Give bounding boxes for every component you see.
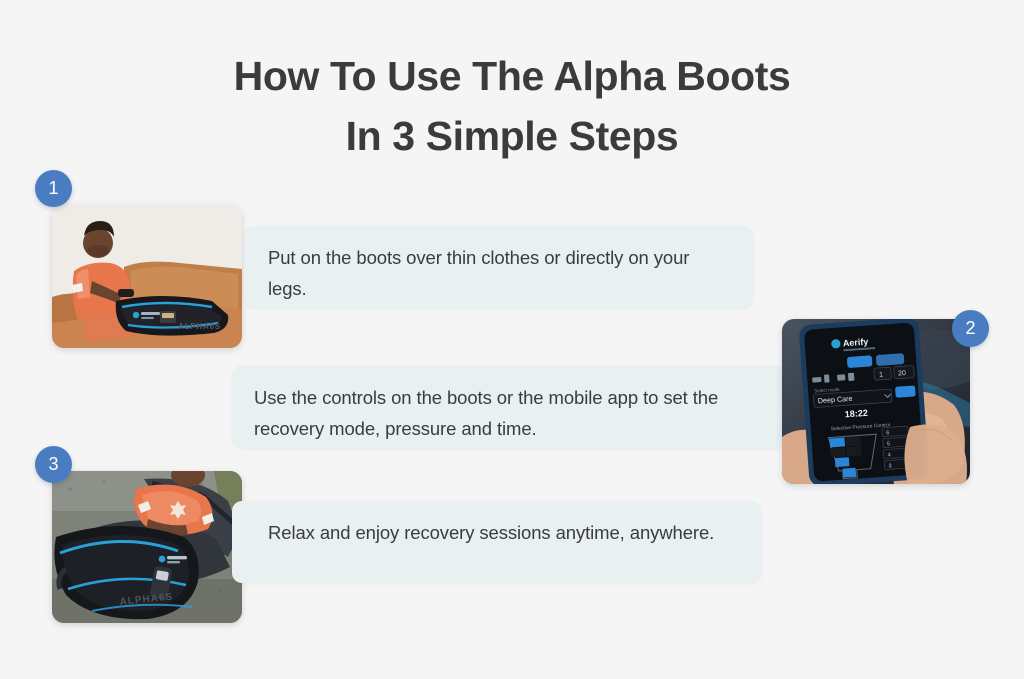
infographic-canvas: How To Use The Alpha Boots In 3 Simple S… [0, 0, 1024, 679]
step-3-card: Relax and enjoy recovery sessions anytim… [232, 501, 761, 583]
step-1-badge-number: 1 [48, 178, 58, 199]
svg-text:3: 3 [888, 463, 891, 469]
step-1-text: Put on the boots over thin clothes or di… [268, 242, 729, 304]
svg-text:20: 20 [898, 370, 906, 378]
step-2-text: Use the controls on the boots or the mob… [254, 382, 764, 444]
step-1-photo: ALPHA6S [52, 205, 242, 348]
step-2-badge: 2 [952, 310, 989, 347]
step-2-badge-number: 2 [965, 318, 975, 339]
svg-text:5: 5 [887, 441, 890, 447]
step-3-photo: ALPHA6S [52, 471, 242, 623]
step-2-photo: Aerify 1 20 Select mode Deep Care [782, 319, 970, 484]
step-3-text: Relax and enjoy recovery sessions anytim… [268, 517, 725, 548]
page-title-line-1: How To Use The Alpha Boots [0, 46, 1024, 106]
svg-text:1: 1 [879, 372, 883, 379]
svg-text:18:22: 18:22 [844, 408, 868, 420]
svg-text:6: 6 [886, 430, 889, 436]
step-3-badge-number: 3 [48, 454, 58, 475]
step-3-badge: 3 [35, 446, 72, 483]
step-1-badge: 1 [35, 170, 72, 207]
page-title-line-2: In 3 Simple Steps [0, 106, 1024, 166]
page-title: How To Use The Alpha Boots In 3 Simple S… [0, 46, 1024, 166]
svg-text:4: 4 [888, 452, 891, 458]
svg-text:ALPHA6S: ALPHA6S [178, 322, 221, 331]
svg-text:Aerify: Aerify [843, 337, 869, 349]
step-2-card: Use the controls on the boots or the mob… [232, 366, 786, 448]
step-1-card: Put on the boots over thin clothes or di… [244, 226, 753, 308]
